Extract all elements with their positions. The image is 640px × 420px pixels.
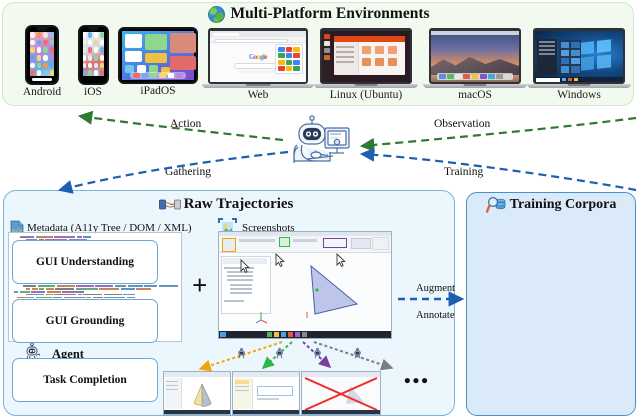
device-label-android: Android [11,86,73,98]
android-home-icons [30,32,54,76]
trajectory-thumb-dialog [232,371,300,415]
handshake-icon [159,198,179,212]
augment-label: Augment [416,283,455,294]
ios-home-icons [83,32,104,76]
environments-title-row: Multi-Platform Environments [3,5,635,23]
corpus-label: GUI Understanding [36,256,134,268]
device-label-web: Web [201,89,315,101]
trajectory-thumb-failed [301,371,381,415]
device-web: Google Web [201,28,315,101]
arrow-label-training: Training [444,166,483,178]
multi-platform-environments-panel: Multi-Platform Environments [2,2,634,106]
raw-screenshot-preview [218,231,392,339]
magnifier-database-icon [486,196,506,214]
device-label-windows: Windows [527,89,631,101]
training-corpora-title-row: Training Corpora [466,196,636,214]
arrow-label-action: Action [170,118,201,130]
device-strip: Android iOS [3,23,635,107]
corpus-label: Task Completion [43,374,127,386]
training-corpora-panel [466,192,636,416]
trajectory-ellipsis: ••• [404,372,430,391]
phone-notch [88,27,99,31]
phone-notch [36,27,48,31]
device-label-ipados: iPadOS [113,85,203,97]
corpus-item-task-completion[interactable]: Task Completion [12,358,158,402]
device-ipados: iPadOS [113,27,203,97]
device-label-linux: Linux (Ubuntu) [313,89,419,101]
arrow-label-observation: Observation [434,118,490,130]
combine-operator: + [192,272,207,299]
corpus-label: GUI Grounding [46,315,125,327]
environments-title: Multi-Platform Environments [230,5,429,23]
corpus-item-gui-grounding[interactable]: GUI Grounding [12,299,158,343]
robot-at-computer-icon [285,114,355,172]
raw-trajectories-title: Raw Trajectories [184,196,294,213]
trajectory-thumb-cone [163,371,231,415]
device-windows: Windows [527,28,631,101]
globe-icon [208,6,225,23]
device-linux: Linux (Ubuntu) [313,28,419,101]
device-android: Android [11,25,73,98]
device-label-macos: macOS [423,89,527,101]
annotate-label: Annotate [416,310,455,321]
device-ios: iOS [69,25,117,98]
corpus-item-gui-understanding[interactable]: GUI Understanding [12,240,158,284]
device-label-ios: iOS [69,86,117,98]
agent-loop-section: Action Observation Gathering Training [0,106,640,188]
figure-root: Multi-Platform Environments [0,0,640,420]
raw-trajectories-title-row: Raw Trajectories [0,196,452,213]
training-corpora-title: Training Corpora [510,197,617,213]
device-macos: macOS [423,28,527,101]
arrow-label-gathering: Gathering [165,166,211,178]
